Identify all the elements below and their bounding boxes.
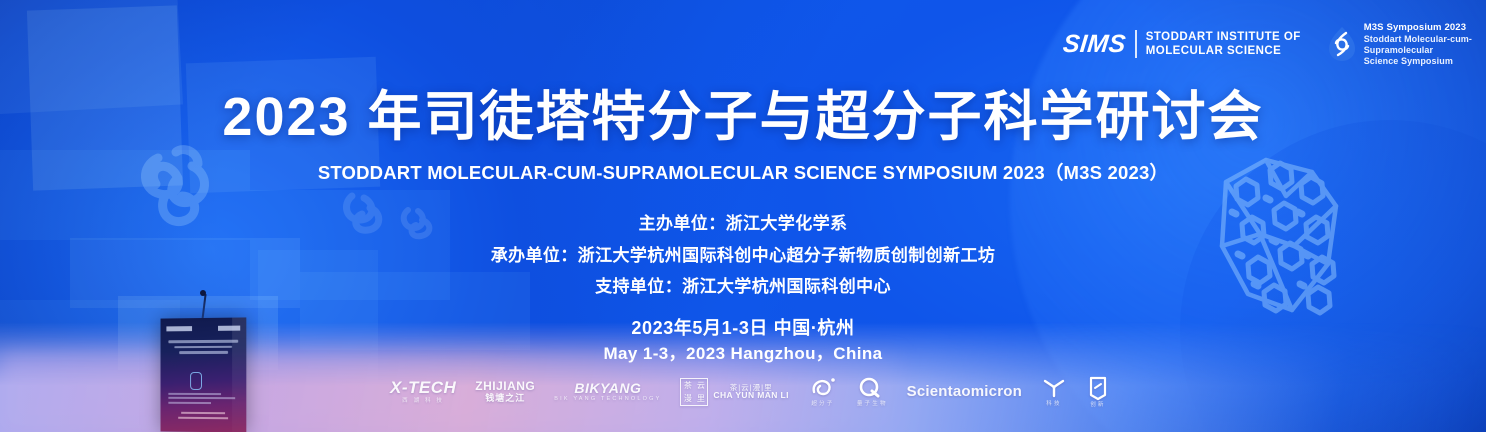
- sponsor-zhijiang-label: ZHIJIANG: [475, 380, 535, 393]
- sponsor-q-sub: 量子生物: [857, 402, 888, 408]
- sponsor-strip: X-TECH 西 湖 科 技 ZHIJIANG 钱塘之江 BIKYANG BIK…: [390, 372, 1110, 412]
- sponsor-zhijiang-sub: 钱塘之江: [475, 394, 535, 403]
- organizer-supporter: 支持单位：浙江大学杭州国际科创中心: [0, 271, 1486, 303]
- sims-logo[interactable]: SIMS STODDART INSTITUTE OF MOLECULAR SCI…: [1063, 30, 1301, 59]
- molecule-brand-icon: [808, 376, 838, 400]
- sponsor-x-tech-label: X-TECH: [390, 379, 456, 397]
- sponsor-bikyang[interactable]: BIKYANG BIK YANG TECHNOLOGY: [554, 381, 661, 403]
- sponsor-folder-brand[interactable]: 创新: [1086, 375, 1110, 409]
- sponsor-scientaomicron[interactable]: Scientaomicron: [907, 384, 1022, 400]
- event-date-chinese: 2023年5月1-3日 中国·杭州: [0, 315, 1486, 342]
- m3s-line-3: Science Symposium: [1364, 56, 1472, 67]
- sims-subtitle-line1: STODDART INSTITUTE OF: [1146, 30, 1301, 44]
- podium-organizer-lines: [168, 392, 238, 406]
- m3s-title: M3S Symposium 2023: [1364, 22, 1472, 34]
- chayun-seal-icon: 茶云漫里: [680, 378, 708, 406]
- m3s-line-2: Supramolecular: [1364, 45, 1472, 56]
- m3s-logo[interactable]: M3S Symposium 2023 Stoddart Molecular-cu…: [1327, 22, 1472, 66]
- podium-molecule-icon: [190, 372, 202, 390]
- sims-subtitle: STODDART INSTITUTE OF MOLECULAR SCIENCE: [1146, 30, 1301, 59]
- page-title-chinese: 2023 年司徒塔特分子与超分子科学研讨会: [0, 88, 1486, 146]
- folder-brand-icon: [1086, 375, 1110, 401]
- sponsor-cha-yun-man-li[interactable]: 茶云漫里 茶|云|漫|里 CHA YUN MAN LI: [680, 378, 789, 406]
- m3s-text-block: M3S Symposium 2023 Stoddart Molecular-cu…: [1364, 22, 1472, 66]
- header-logo-bar: SIMS STODDART INSTITUTE OF MOLECULAR SCI…: [1063, 22, 1472, 66]
- organizer-host: 主办单位：浙江大学化学系: [0, 208, 1486, 240]
- sims-wordmark: SIMS: [1062, 32, 1127, 57]
- event-date-english: May 1-3，2023 Hangzhou，China: [0, 342, 1486, 367]
- title-block: 2023 年司徒塔特分子与超分子科学研讨会 STODDART MOLECULAR…: [0, 88, 1486, 185]
- sponsor-x-tech[interactable]: X-TECH 西 湖 科 技: [390, 379, 456, 405]
- page-title-english: STODDART MOLECULAR-CUM-SUPRAMOLECULAR SC…: [0, 159, 1486, 185]
- sponsor-folder-sub: 创新: [1086, 403, 1110, 409]
- m3s-line-1: Stoddart Molecular-cum-: [1364, 34, 1472, 45]
- sponsor-chayun-label-en: CHA YUN MAN LI: [713, 391, 789, 400]
- sponsor-y-brand[interactable]: 科技: [1041, 376, 1067, 408]
- organizer-block: 主办单位：浙江大学化学系 承办单位：浙江大学杭州国际科创中心超分子新物质创制创新…: [0, 208, 1486, 303]
- sims-subtitle-line2: MOLECULAR SCIENCE: [1146, 44, 1301, 58]
- podium-date-lines: [176, 412, 230, 423]
- sponsor-zhijiang[interactable]: ZHIJIANG 钱塘之江: [475, 380, 535, 403]
- sponsor-q-brand[interactable]: 量子生物: [857, 376, 888, 408]
- sims-divider: [1135, 30, 1137, 58]
- sponsor-y-sub: 科技: [1041, 402, 1067, 408]
- sponsor-bikyang-label: BIKYANG: [554, 381, 661, 396]
- q-brand-icon: [857, 376, 883, 400]
- sponsor-scientaomicron-label: Scientaomicron: [907, 384, 1022, 400]
- y-brand-icon: [1041, 376, 1067, 400]
- flame-swirl-icon: [1327, 26, 1357, 62]
- sponsor-bikyang-sub: BIK YANG TECHNOLOGY: [554, 397, 661, 403]
- sponsor-x-tech-sub: 西 湖 科 技: [390, 399, 456, 405]
- organizer-undertaker: 承办单位：浙江大学杭州国际科创中心超分子新物质创制创新工坊: [0, 240, 1486, 272]
- conference-backdrop: SIMS STODDART INSTITUTE OF MOLECULAR SCI…: [0, 0, 1486, 432]
- event-date-block: 2023年5月1-3日 中国·杭州 May 1-3，2023 Hangzhou，…: [0, 315, 1486, 367]
- sponsor-molecule-brand[interactable]: 超分子: [808, 376, 838, 408]
- sponsor-molecule-sub: 超分子: [808, 402, 838, 408]
